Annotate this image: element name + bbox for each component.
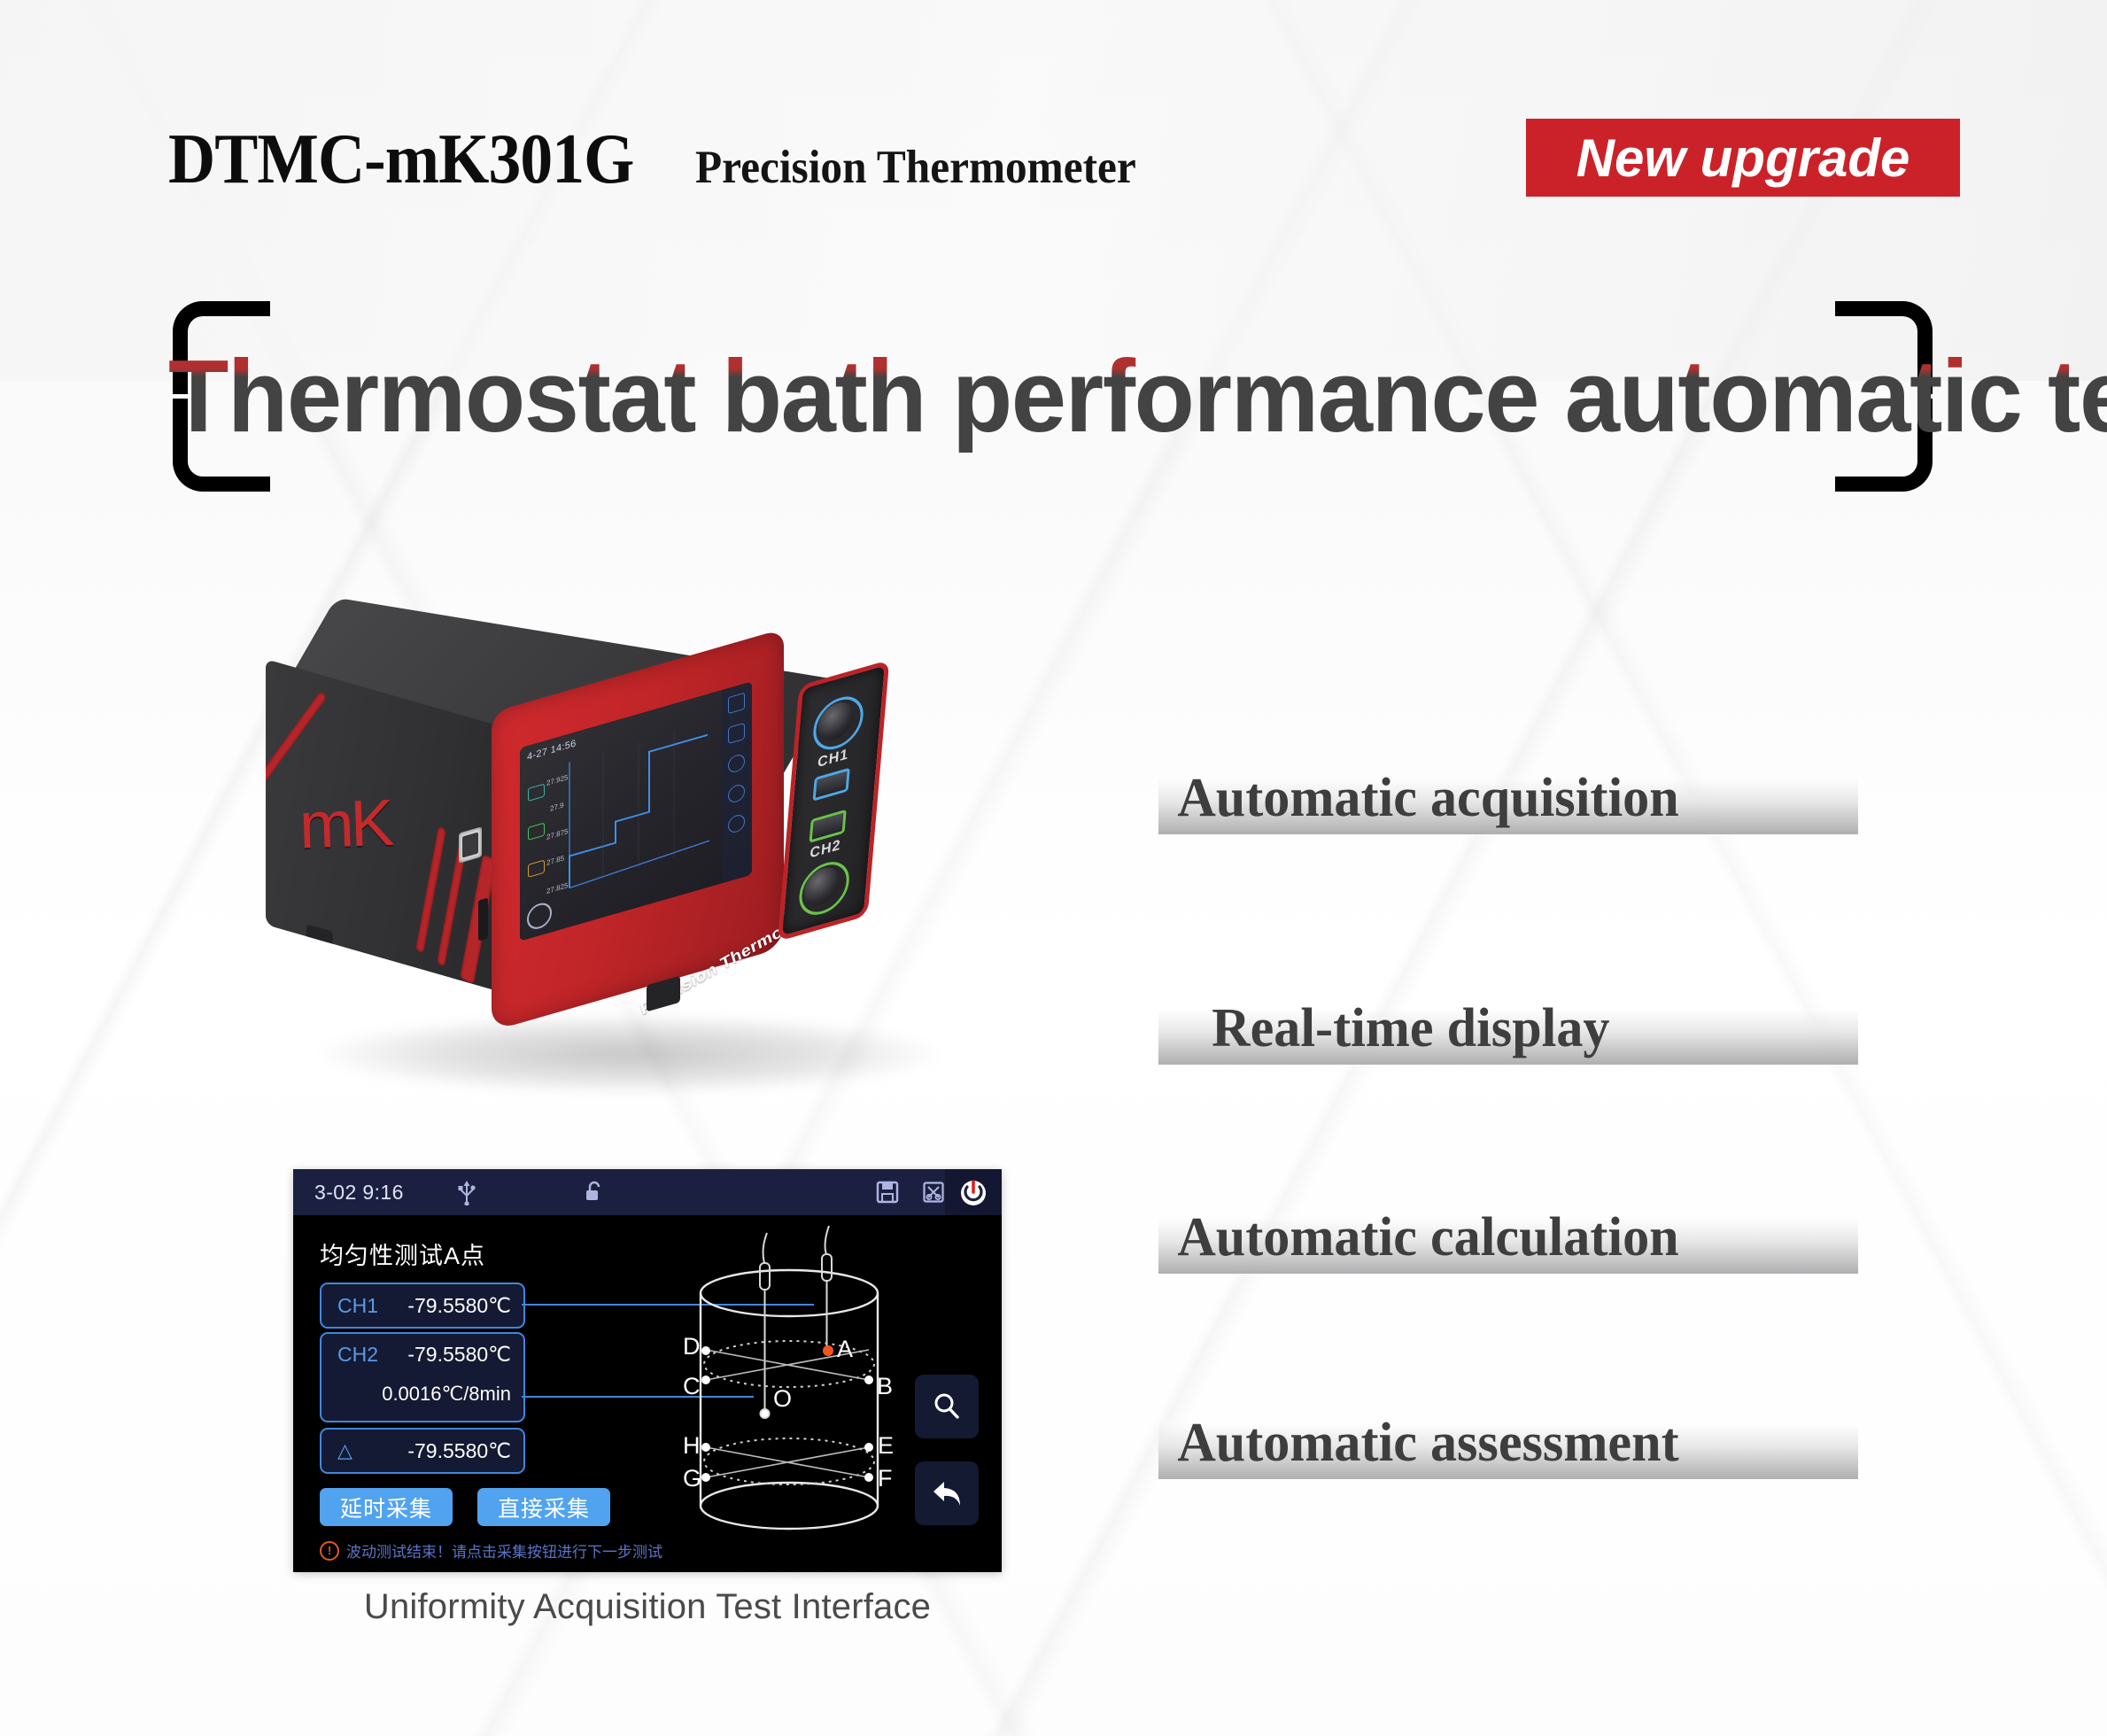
product-subtitle: Precision Thermometer — [695, 144, 1136, 191]
warning-icon: ! — [320, 1541, 339, 1561]
feature-item-3: Automatic assessment — [1158, 1408, 1858, 1477]
device-screen-chip-3 — [528, 860, 545, 878]
readout-ch2-rate: 0.0016℃/8min — [382, 1383, 511, 1406]
product-model: DTMC-mK301G — [168, 124, 633, 195]
warning-message: ! 波动测试结束！请点击采集按钮进行下一步测试 — [320, 1539, 662, 1562]
readout-ch2[interactable]: CH2 -79.5580℃ 0.0016℃/8min — [320, 1332, 525, 1422]
device-screen-toolbar — [722, 681, 752, 883]
diagram-point-G: G — [683, 1465, 701, 1492]
readout-delta[interactable]: △ -79.5580℃ — [320, 1428, 525, 1474]
device-photo: mK 4-27 14:56 27.925 27.9 27.875 27.85 2… — [266, 633, 1045, 1094]
ui-status-datetime: 3-02 9:16 — [314, 1181, 404, 1205]
search-button[interactable] — [915, 1375, 979, 1438]
readout-ch1-label: CH1 — [337, 1294, 378, 1318]
readout-ch1[interactable]: CH1 -79.5580℃ — [320, 1283, 525, 1329]
device-foot-left — [306, 924, 333, 955]
new-upgrade-badge: New upgrade — [1526, 119, 1960, 197]
readout-delta-value: -79.5580℃ — [407, 1439, 511, 1463]
device-ch1-label: CH1 — [817, 747, 849, 771]
direct-acquisition-label: 直接采集 — [498, 1492, 590, 1523]
feature-item-0: Automatic acquisition — [1158, 763, 1858, 833]
diagram-point-D: D — [683, 1333, 701, 1360]
device-screen-table-icon — [728, 723, 745, 744]
search-icon — [931, 1391, 963, 1422]
ui-screen-title: 均匀性测试A点 — [320, 1236, 485, 1271]
device-screen-chip-2 — [528, 823, 545, 841]
device-screen-settings-icon — [728, 753, 745, 774]
device-screen-chip-1 — [528, 784, 545, 802]
ui-status-bar: 3-02 9:16 — [293, 1169, 1002, 1215]
feature-label-1: Real-time display — [1158, 997, 1609, 1060]
readout-ch1-value: -79.5580℃ — [407, 1294, 511, 1318]
ui-screenshot-caption: Uniformity Acquisition Test Interface — [293, 1587, 1002, 1627]
device-screen-trend-chart — [561, 717, 711, 902]
diagram-point-E: E — [878, 1432, 894, 1459]
feature-item-2: Automatic calculation — [1158, 1203, 1858, 1272]
device-screen-home-icon — [527, 900, 552, 932]
device-screen-trend-icon — [728, 693, 745, 714]
readout-ch2-value: -79.5580℃ — [407, 1343, 511, 1367]
diagram-point-F: F — [878, 1465, 893, 1492]
power-icon[interactable] — [945, 1169, 1002, 1215]
headline: Thermostat bath performance automatic te… — [168, 329, 1940, 462]
headline-text: Thermostat bath performance automatic te… — [168, 337, 2107, 455]
feature-item-1: Real-time display — [1158, 994, 1858, 1063]
device-screen-more-icon — [728, 813, 745, 834]
uniformity-cylinder-diagram: A B C D E F G H O — [647, 1224, 931, 1554]
diagram-point-C: C — [683, 1373, 701, 1399]
diagram-point-A: A — [837, 1336, 853, 1362]
diagram-point-O: O — [773, 1385, 792, 1412]
warning-text: 波动测试结束！请点击采集按钮进行下一步测试 — [346, 1539, 662, 1562]
back-button[interactable] — [915, 1461, 979, 1525]
scissors-icon[interactable] — [922, 1181, 945, 1204]
save-icon[interactable] — [876, 1181, 899, 1204]
device-ch1-dsub-port — [813, 768, 850, 802]
new-upgrade-badge-label: New upgrade — [1576, 128, 1910, 189]
readout-ch2-label: CH2 — [337, 1343, 378, 1367]
delayed-acquisition-button[interactable]: 延时采集 — [320, 1488, 453, 1526]
device-screen-link-icon — [728, 783, 745, 804]
diagram-point-B: B — [877, 1373, 893, 1399]
back-arrow-icon — [930, 1478, 964, 1508]
diagram-point-H: H — [683, 1432, 701, 1459]
device-brand-logo: mK — [298, 785, 392, 864]
feature-label-0: Automatic acquisition — [1158, 767, 1679, 830]
delayed-acquisition-label: 延时采集 — [340, 1492, 432, 1523]
ui-status-right-icons — [876, 1169, 1002, 1215]
ui-screenshot-panel: 3-02 9:16 — [293, 1169, 1002, 1572]
device-shadow — [319, 1014, 939, 1094]
product-title-row: DTMC-mK301G Precision Thermometer — [168, 124, 1169, 195]
feature-label-2: Automatic calculation — [1158, 1206, 1679, 1269]
unlock-icon[interactable] — [583, 1180, 606, 1205]
readout-delta-label: △ — [337, 1439, 352, 1462]
feature-label-3: Automatic assessment — [1158, 1412, 1679, 1475]
direct-acquisition-button[interactable]: 直接采集 — [477, 1488, 610, 1526]
usb-icon[interactable] — [455, 1179, 478, 1205]
device-sd-slot — [478, 897, 488, 941]
